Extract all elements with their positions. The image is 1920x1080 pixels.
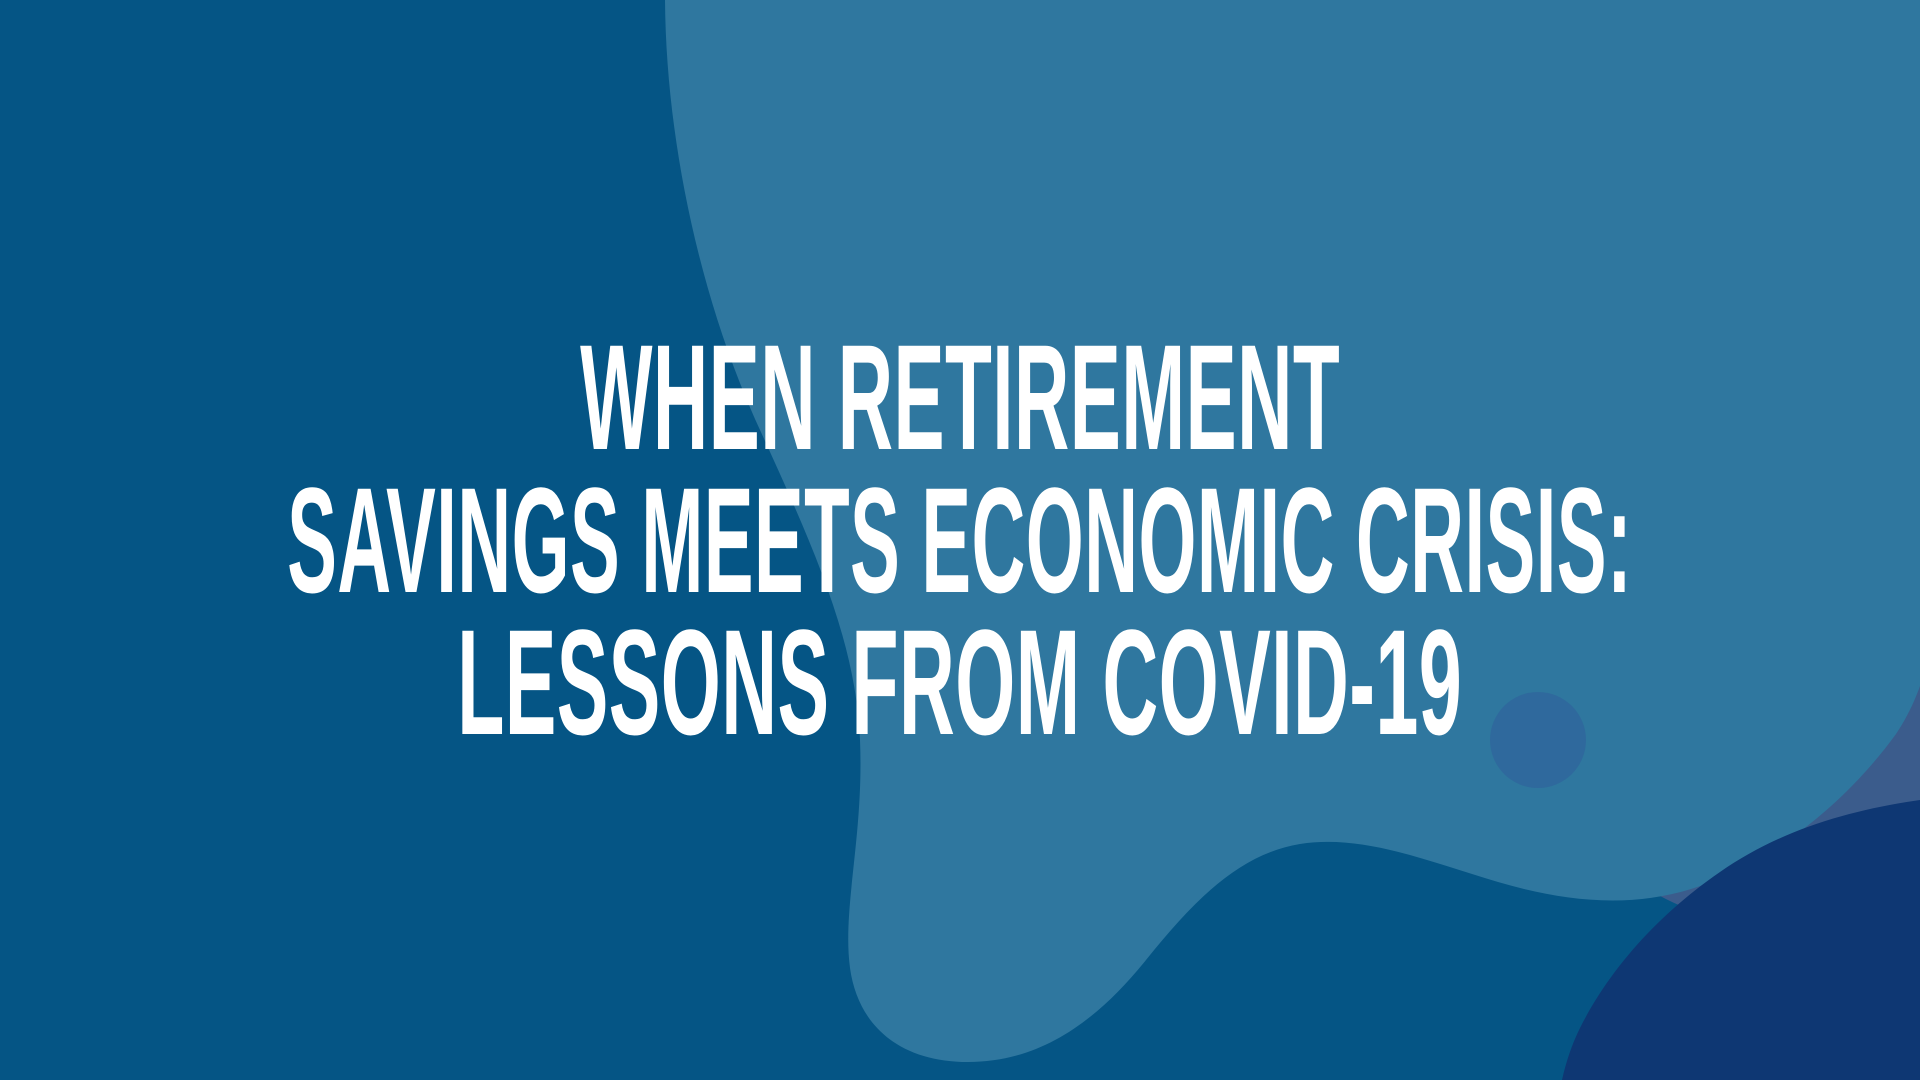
title-card-slide: WHEN RETIREMENT SAVINGS MEETS ECONOMIC C… — [0, 0, 1920, 1080]
small-navy-dot — [1490, 692, 1586, 788]
background-decoration — [0, 0, 1920, 1080]
